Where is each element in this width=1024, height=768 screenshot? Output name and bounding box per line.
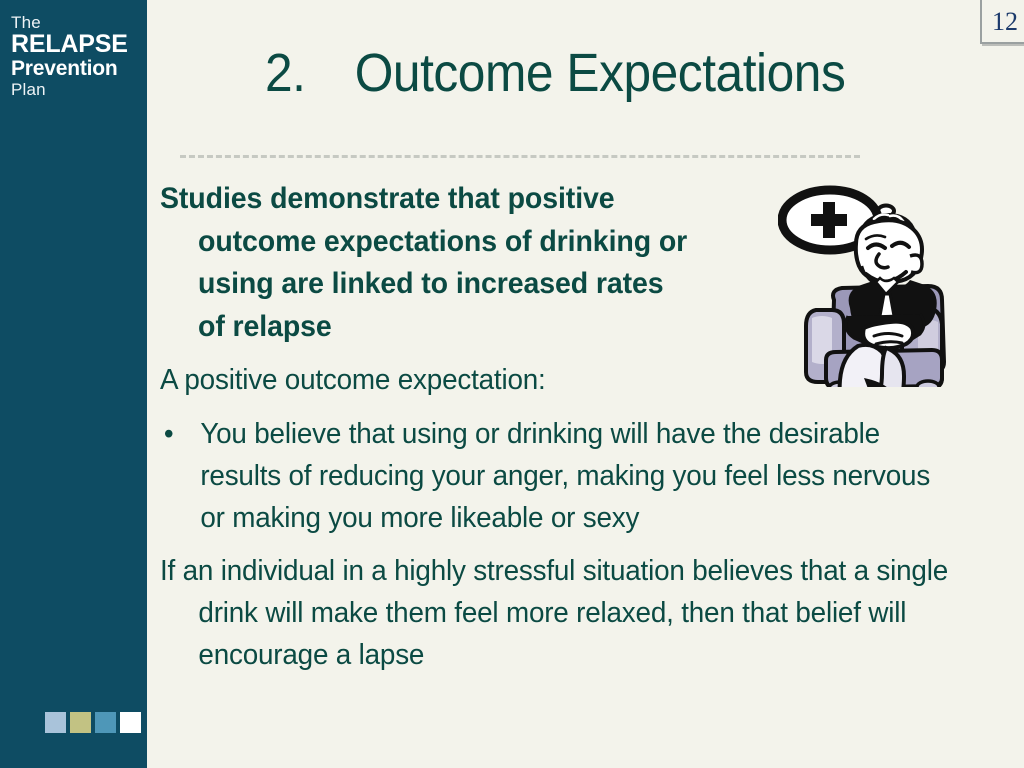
brand-logo: The RELAPSE Prevention Plan xyxy=(11,14,143,99)
swatch-light-blue xyxy=(45,712,66,733)
sidebar: The RELAPSE Prevention Plan xyxy=(0,0,147,768)
list-item-text: You believe that using or drinking will … xyxy=(200,418,930,534)
slide-title: 2. Outcome Expectations xyxy=(265,42,845,104)
bullet-point-icon: • xyxy=(164,413,174,455)
logo-line-relapse: RELAPSE xyxy=(11,32,143,58)
page-number-value: 12 xyxy=(992,7,1018,37)
page-number-badge: 12 xyxy=(980,0,1024,44)
divider-dashed-rule xyxy=(180,155,860,158)
list-item: • You believe that using or drinking wil… xyxy=(160,413,957,539)
bullet-list: • You believe that using or drinking wil… xyxy=(160,413,990,539)
slide-canvas: The RELAPSE Prevention Plan 2. Outcome E… xyxy=(0,0,1024,768)
relaxed-man-in-armchair-illustration xyxy=(778,182,1000,387)
color-swatch-row xyxy=(45,712,141,733)
swatch-blue xyxy=(95,712,116,733)
logo-line-the: The xyxy=(11,14,143,31)
swatch-khaki xyxy=(70,712,91,733)
closing-paragraph: If an individual in a highly stressful s… xyxy=(160,550,957,676)
swatch-white xyxy=(120,712,141,733)
logo-line-prevention: Prevention xyxy=(11,58,143,79)
logo-line-plan: Plan xyxy=(11,81,143,98)
lead-paragraph: Studies demonstrate that positive outcom… xyxy=(160,178,692,348)
